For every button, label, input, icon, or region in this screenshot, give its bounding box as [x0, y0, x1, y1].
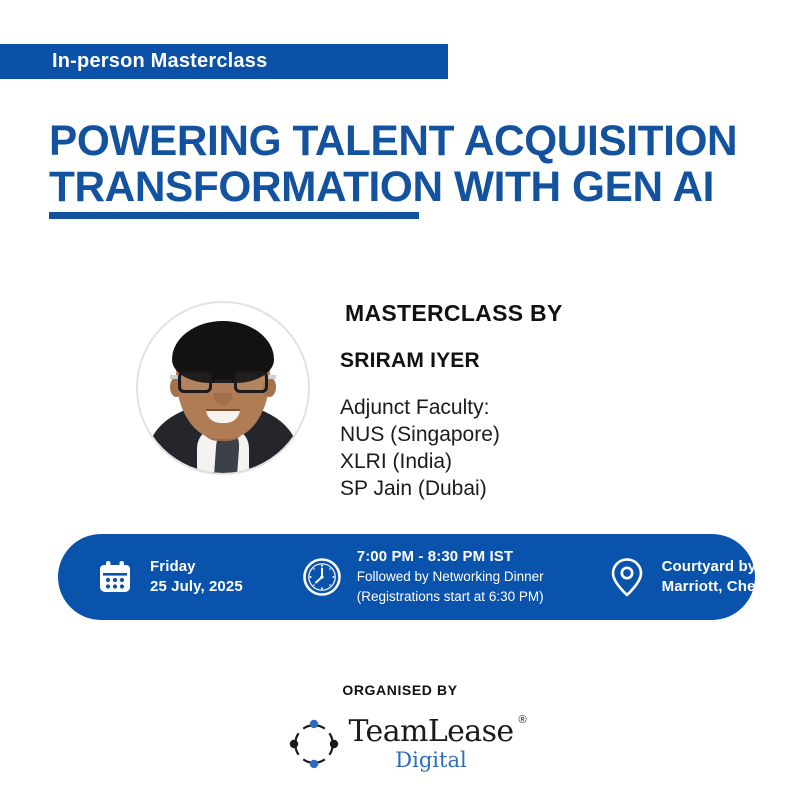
clock-icon — [301, 556, 343, 598]
time-range: 7:00 PM - 8:30 PM IST — [357, 548, 513, 565]
event-info-bar: Friday 25 July, 2025 7:00 PM - — [58, 534, 755, 620]
date-text: Friday 25 July, 2025 — [150, 557, 243, 597]
glasses-lens-right — [234, 371, 268, 393]
info-item-date: Friday 25 July, 2025 — [94, 556, 243, 598]
speaker-details: MASTERCLASS BY SRIRAM IYER Adjunct Facul… — [340, 300, 720, 503]
time-note-dinner: Followed by Networking Dinner — [357, 569, 544, 584]
banner-label: In-person Masterclass — [0, 50, 267, 73]
title-underline-rule — [49, 212, 419, 219]
faculty-line: NUS (Singapore) — [340, 422, 720, 449]
glasses-temple-right — [268, 375, 276, 379]
title-line-1: POWERING TALENT ACQUISITION — [49, 118, 739, 164]
glasses-lens-left — [178, 371, 212, 393]
teamlease-circle-dots-icon — [286, 716, 342, 772]
calendar-icon — [94, 556, 136, 598]
glasses-temple-left — [170, 375, 178, 379]
venue-line-2: Marriott, Chennai — [662, 578, 787, 595]
speaker-faculty-list: Adjunct Faculty: NUS (Singapore) XLRI (I… — [340, 395, 720, 503]
portrait-brow-left — [181, 365, 207, 370]
title-line-2: TRANSFORMATION WITH GEN AI — [49, 164, 739, 210]
faculty-line: XLRI (India) — [340, 449, 720, 476]
portrait-brow-right — [239, 365, 265, 370]
venue-line-1: Courtyard by — [662, 558, 757, 575]
venue-text: Courtyard by Marriott, Chennai — [662, 557, 787, 597]
event-poster: { "banner": { "label": "In-person Master… — [0, 0, 800, 800]
speaker-name: SRIRAM IYER — [340, 349, 720, 373]
avatar — [138, 303, 308, 473]
faculty-line: Adjunct Faculty: — [340, 395, 720, 422]
time-note-registration: (Registrations start at 6:30 PM) — [357, 589, 544, 604]
page-title: POWERING TALENT ACQUISITION TRANSFORMATI… — [49, 118, 749, 210]
teamlease-logo: TeamLease® Digital — [0, 714, 800, 772]
info-item-venue: Courtyard by Marriott, Chennai — [606, 556, 787, 598]
time-text: 7:00 PM - 8:30 PM IST Followed by Networ… — [357, 547, 544, 607]
teamlease-sub: Digital — [348, 748, 513, 772]
location-pin-icon — [606, 556, 648, 598]
teamlease-name: TeamLease — [348, 714, 513, 749]
in-person-banner: In-person Masterclass — [0, 44, 448, 79]
organised-by-label: ORGANISED BY — [0, 682, 800, 698]
portrait-glasses — [175, 371, 271, 393]
faculty-line: SP Jain (Dubai) — [340, 476, 720, 503]
glasses-bridge — [214, 379, 232, 383]
speaker-portrait-image — [138, 303, 308, 473]
registered-trademark-icon: ® — [518, 714, 526, 726]
date-day: Friday — [150, 558, 196, 575]
date-value: 25 July, 2025 — [150, 578, 243, 595]
masterclass-by-heading: MASTERCLASS BY — [345, 300, 720, 327]
teamlease-wordmark: TeamLease® Digital — [348, 714, 513, 772]
info-item-time: 7:00 PM - 8:30 PM IST Followed by Networ… — [301, 547, 544, 607]
